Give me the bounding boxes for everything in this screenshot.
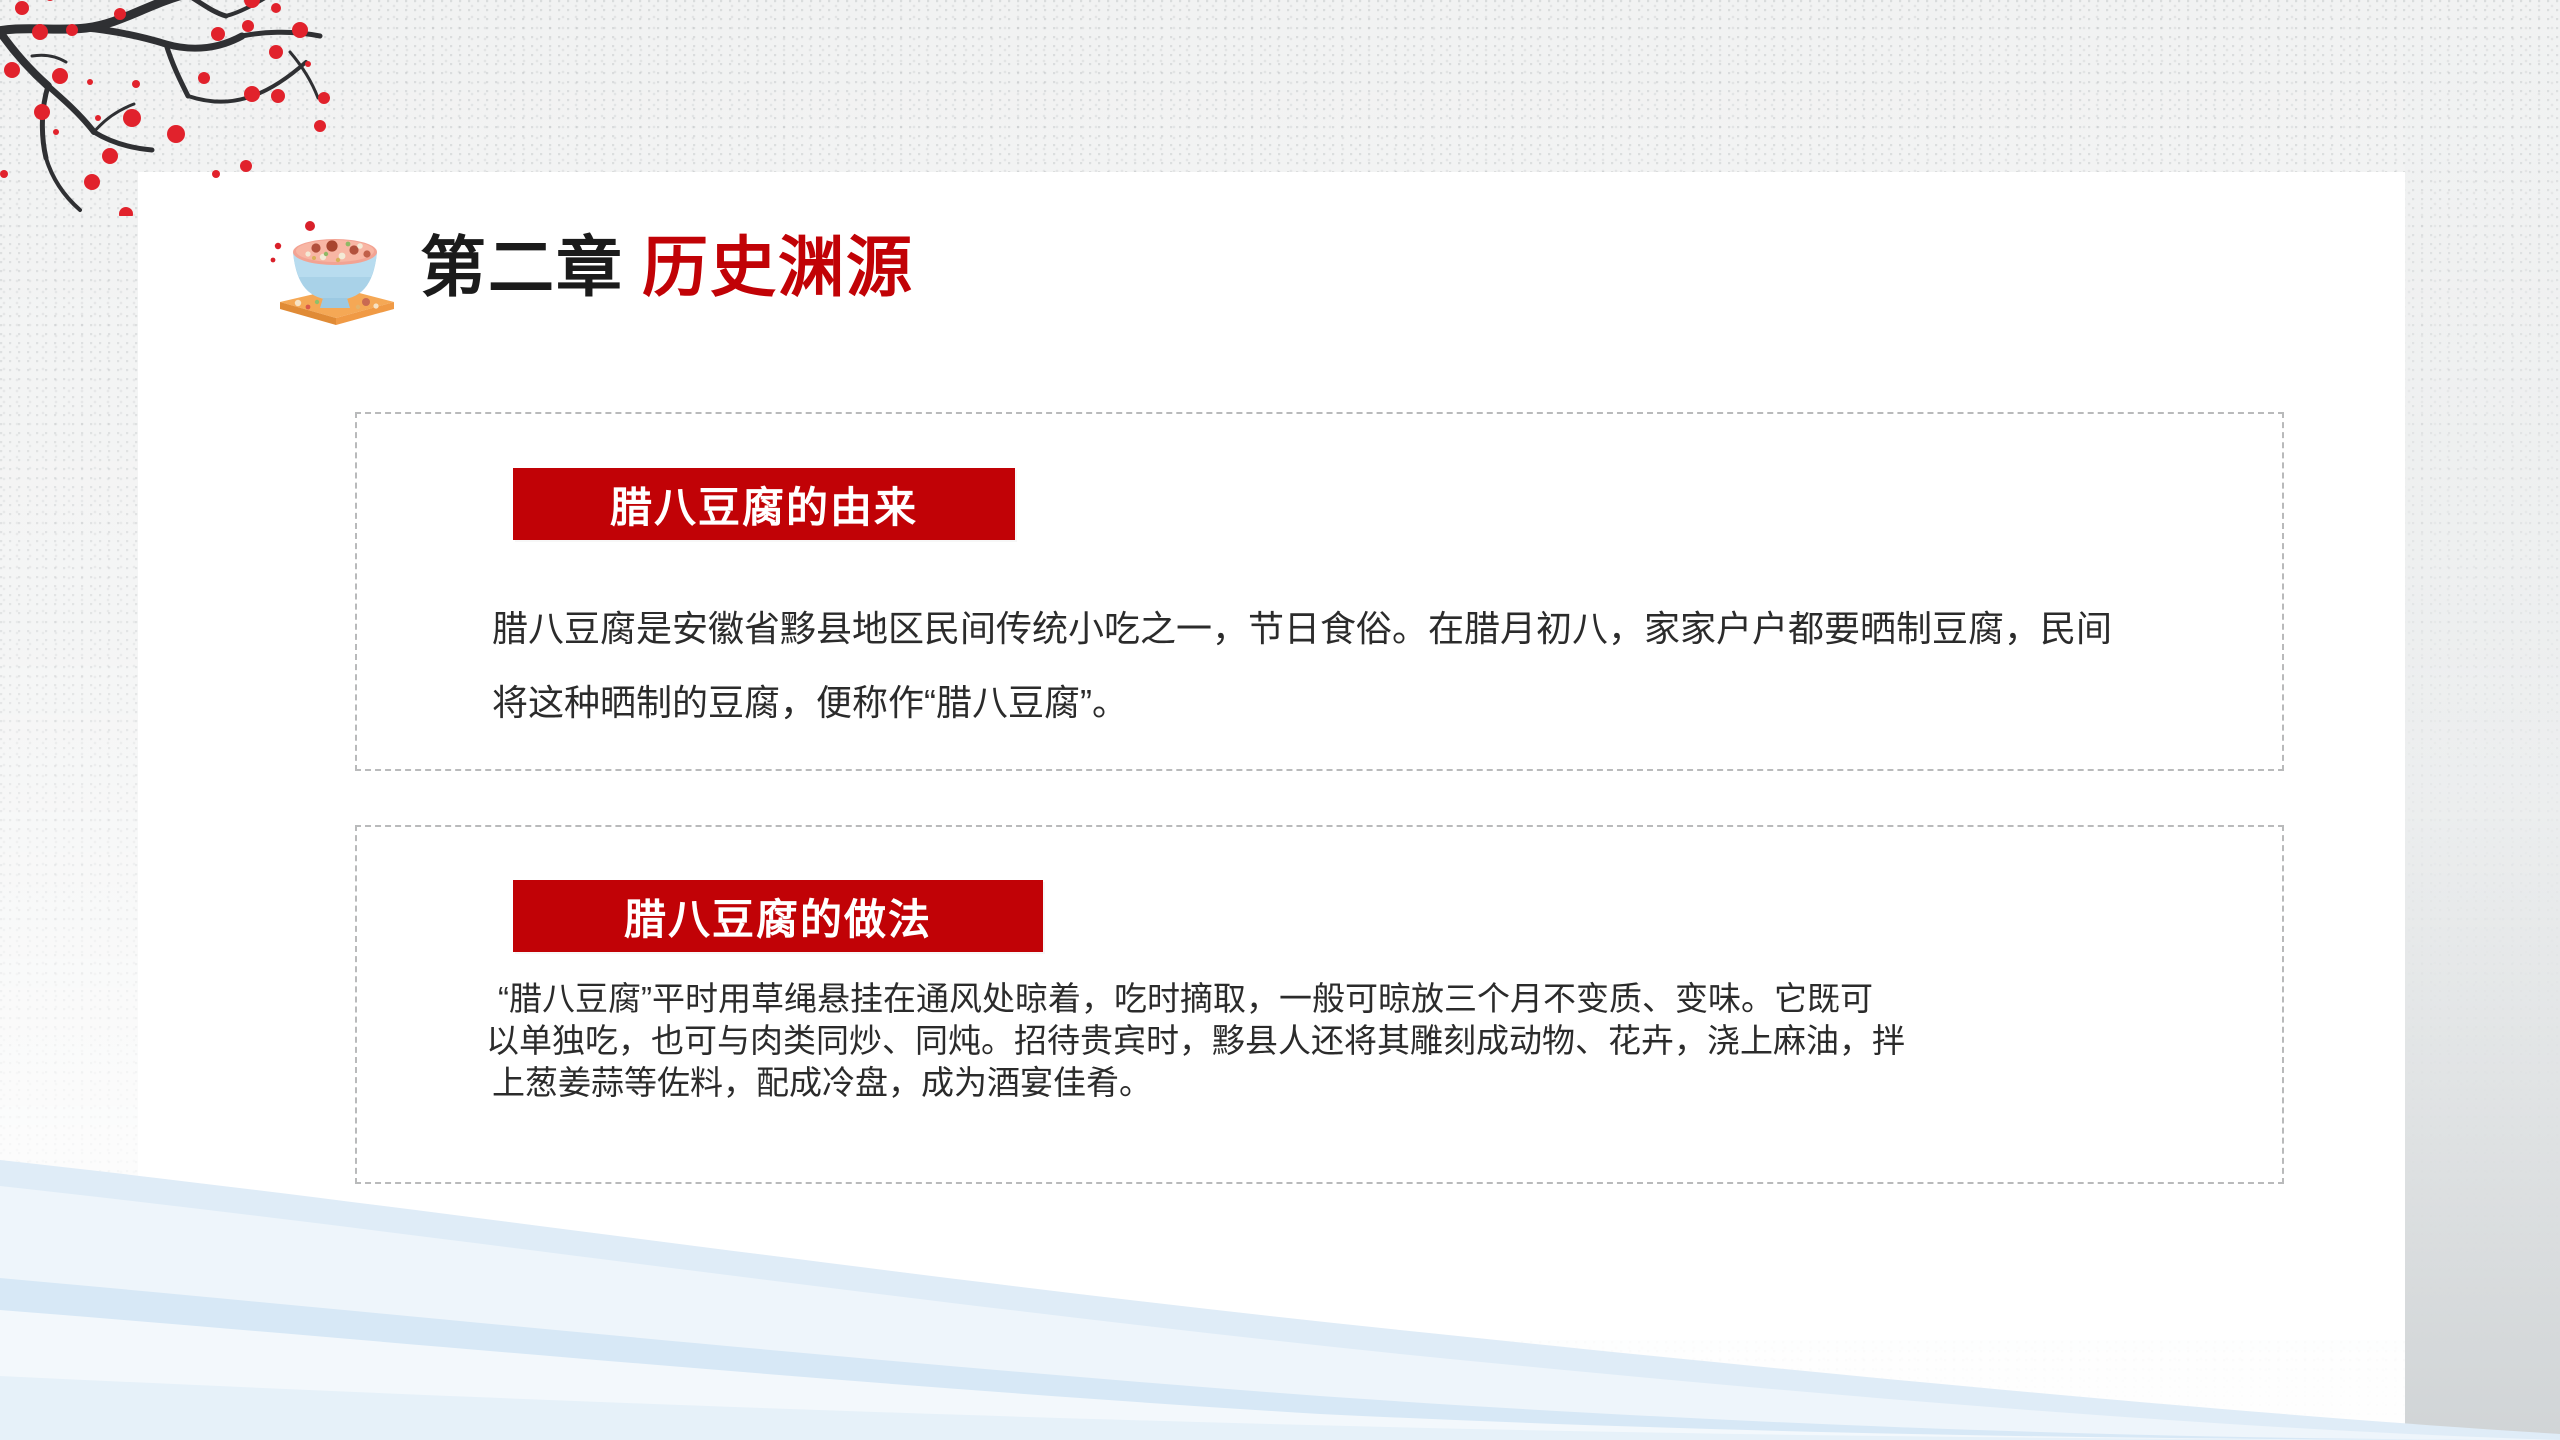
title-main-label: 历史渊源 [642, 230, 914, 304]
background-right-gradient [2405, 0, 2560, 1440]
paragraph-line: 以单独吃，也可与肉类同炒、同炖。招待贵宾时，黟县人还将其雕刻成动物、花卉，浇上麻… [486, 1020, 1905, 1062]
section-tag-origin: 腊八豆腐的由来 [513, 468, 1015, 540]
paragraph-line: 将这种晒制的豆腐，便称作“腊八豆腐”。 [492, 666, 2112, 740]
section-paragraph-origin: 腊八豆腐是安徽省黟县地区民间传统小吃之一，节日食俗。在腊月初八，家家户户都要晒制… [492, 592, 2112, 740]
slide-canvas: 腊八豆腐的由来 腊八豆腐是安徽省黟县地区民间传统小吃之一，节日食俗。在腊月初八，… [0, 0, 2560, 1440]
chapter-label: 第二章 [420, 230, 624, 304]
page-title: 第二章历史渊源 [420, 234, 914, 306]
page-header: 第二章历史渊源 [270, 210, 914, 330]
section-tag-method: 腊八豆腐的做法 [513, 880, 1043, 952]
section-paragraph-method: “腊八豆腐”平时用草绳悬挂在通风处晾着，吃时摘取，一般可晾放三个月不变质、变味。… [498, 978, 1905, 1104]
paragraph-line: 上葱姜蒜等佐料，配成冷盘，成为酒宴佳肴。 [492, 1062, 1905, 1104]
paragraph-line: 腊八豆腐是安徽省黟县地区民间传统小吃之一，节日食俗。在腊月初八，家家户户都要晒制… [492, 592, 2112, 666]
porridge-bowl-icon [270, 210, 400, 330]
paragraph-line: “腊八豆腐”平时用草绳悬挂在通风处晾着，吃时摘取，一般可晾放三个月不变质、变味。… [498, 978, 1905, 1020]
